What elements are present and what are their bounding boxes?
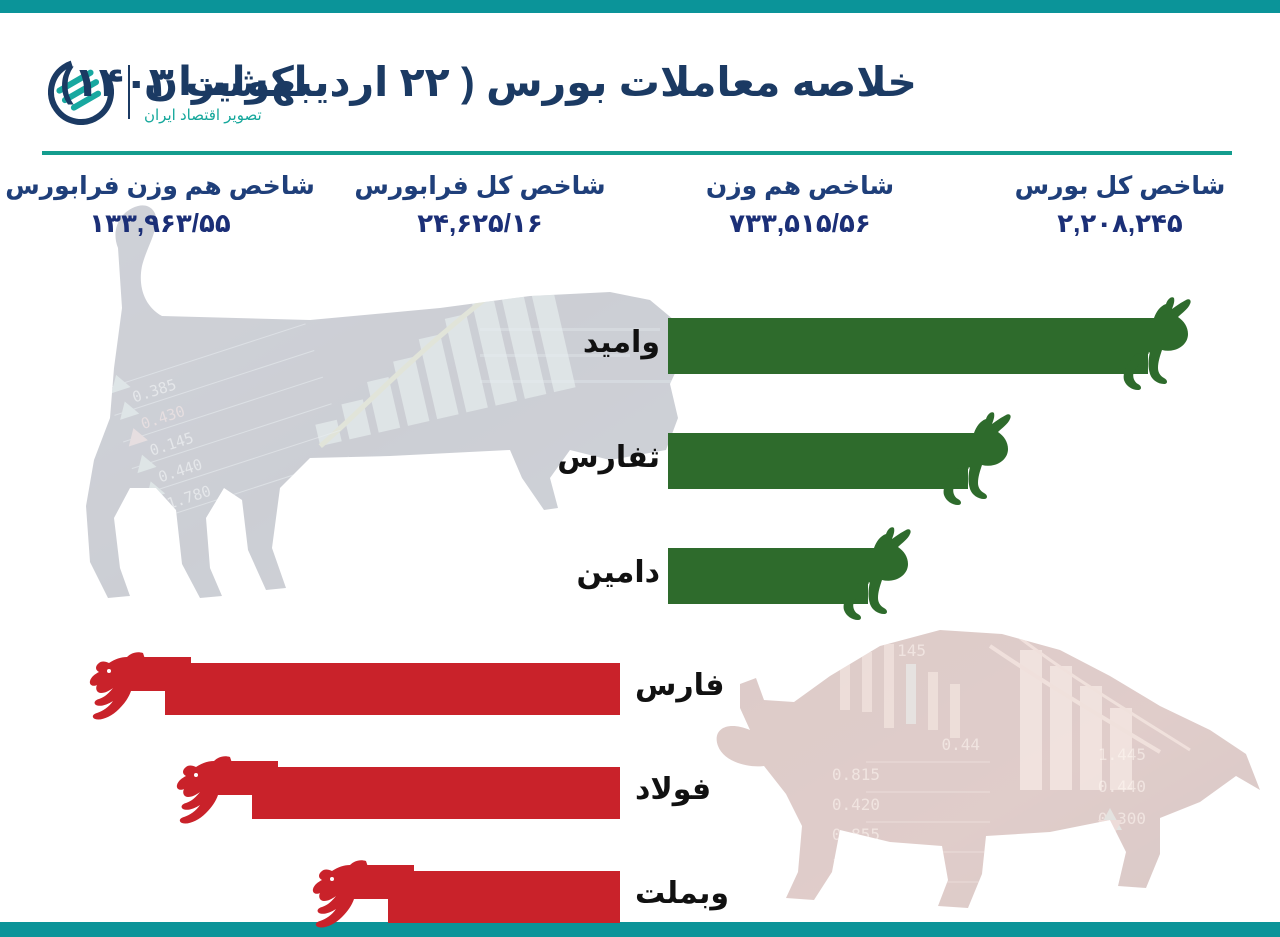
kpi-farabourse-total-index: شاخص کل فرابورس ۲۴,۶۲۵/۱۶ — [320, 172, 640, 260]
header-divider — [42, 151, 1232, 155]
kpi-total-index: شاخص کل بورس ۲,۲۰۸,۲۴۵ — [960, 172, 1280, 260]
loss-bar — [252, 767, 620, 819]
kpi-label: شاخص کل فرابورس — [320, 172, 640, 201]
kpi-value: ۷۳۳,۵۱۵/۵۶ — [640, 209, 960, 239]
chart-row-gainer: دامین — [0, 541, 1280, 611]
kpi-value: ۲,۲۰۸,۲۴۵ — [960, 209, 1280, 239]
chart-row-loser: فولاد — [0, 758, 1280, 828]
kpi-farabourse-equal-weight-index: شاخص هم وزن فرابورس ۱۳۳,۹۶۳/۵۵ — [0, 172, 320, 260]
chart-row-gainer: وامید — [0, 311, 1280, 381]
bear-icon — [87, 651, 191, 729]
bar-container — [388, 871, 620, 923]
bar-container — [668, 548, 868, 604]
chart-row-gainer: ثفارس — [0, 426, 1280, 496]
bull-icon — [834, 526, 930, 626]
gain-bar — [668, 433, 968, 489]
chart-row-loser: وبملت — [0, 862, 1280, 932]
bar-container — [252, 767, 620, 819]
kpi-label: شاخص هم وزن — [640, 172, 960, 201]
chart-row-loser: فارس — [0, 654, 1280, 724]
bar-container — [668, 433, 968, 489]
kpi-equal-weight-index: شاخص هم وزن ۷۳۳,۵۱۵/۵۶ — [640, 172, 960, 260]
bar-label: فولاد — [635, 772, 711, 807]
bar-label: فارس — [635, 668, 725, 703]
kpi-value: ۲۴,۶۲۵/۱۶ — [320, 209, 640, 239]
loss-bar — [388, 871, 620, 923]
bull-icon — [934, 411, 1030, 511]
bear-icon — [174, 755, 278, 833]
gain-bar — [668, 318, 1148, 374]
bar-label: ثفارس — [557, 440, 660, 475]
index-summary-strip: شاخص کل بورس ۲,۲۰۸,۲۴۵ شاخص هم وزن ۷۳۳,۵… — [0, 172, 1280, 260]
bar-label: وبملت — [635, 876, 729, 911]
loss-bar — [165, 663, 620, 715]
bar-container — [668, 318, 1148, 374]
brand-tagline: تصویر اقتصاد ایران — [144, 108, 262, 123]
infographic-canvas: 0.385 0.430 0.145 0.440 1.780 — [0, 0, 1280, 937]
kpi-label: شاخص هم وزن فرابورس — [0, 172, 320, 201]
bar-container — [165, 663, 620, 715]
kpi-value: ۱۳۳,۹۶۳/۵۵ — [0, 209, 320, 239]
page-title: خلاصه معاملات بورس ( ۲۲ اردیبهشت ۱۴۰۳) — [60, 58, 962, 106]
top-accent-bar — [0, 0, 1280, 13]
bar-label: دامین — [577, 555, 661, 590]
bull-icon — [1114, 296, 1210, 396]
bar-label: وامید — [583, 325, 660, 360]
kpi-label: شاخص کل بورس — [960, 172, 1280, 201]
bear-icon — [310, 859, 414, 937]
header: اکوایران تصویر اقتصاد ایران خلاصه معاملا… — [0, 13, 1280, 152]
impact-bar-chart: وامید ثفارس — [0, 262, 1280, 912]
